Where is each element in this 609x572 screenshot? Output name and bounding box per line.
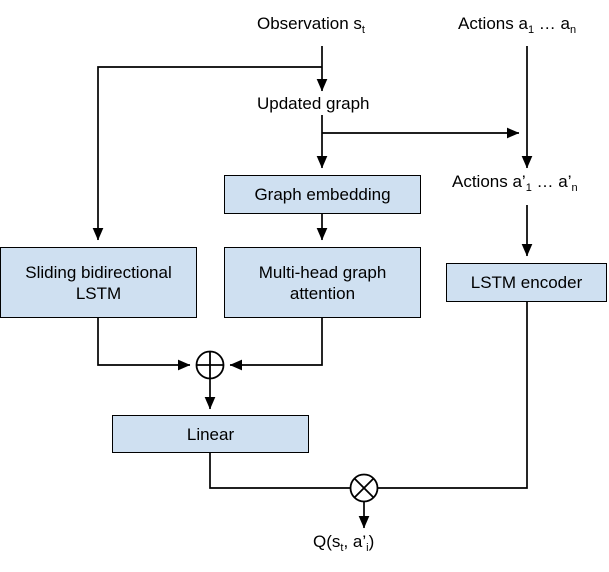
node-label: LSTM encoder	[471, 272, 583, 293]
label-updated-graph: Updated graph	[255, 94, 371, 114]
label-actions-raw: Actions a1 … an	[456, 14, 578, 36]
node-linear[interactable]: Linear	[112, 415, 309, 453]
label-q-output: Q(st, a’i)	[311, 532, 376, 554]
node-multi-head-graph-attention[interactable]: Multi-head graph attention	[224, 247, 421, 318]
node-label: Linear	[187, 424, 234, 445]
node-lstm-encoder[interactable]: LSTM encoder	[446, 263, 607, 302]
label-observation: Observation st	[255, 14, 367, 36]
wire-linear-to-product	[210, 452, 351, 488]
wire-lstm-encoder-to-product	[377, 300, 527, 488]
wire-sliding-bilstm-to-sum	[98, 317, 190, 365]
architecture-diagram: Observation st Actions a1 … an Updated g…	[0, 0, 609, 572]
node-graph-embedding[interactable]: Graph embedding	[224, 175, 421, 214]
node-sliding-bidirectional-lstm[interactable]: Sliding bidirectional LSTM	[0, 247, 197, 318]
wire-attention-to-sum	[230, 317, 322, 365]
node-label: Graph embedding	[254, 184, 390, 205]
label-actions-encoded: Actions a’1 … a’n	[450, 172, 580, 194]
wire-observation-to-sliding-bilstm	[98, 67, 322, 240]
node-label: Multi-head graph attention	[225, 262, 420, 304]
node-label: Sliding bidirectional LSTM	[1, 262, 196, 304]
